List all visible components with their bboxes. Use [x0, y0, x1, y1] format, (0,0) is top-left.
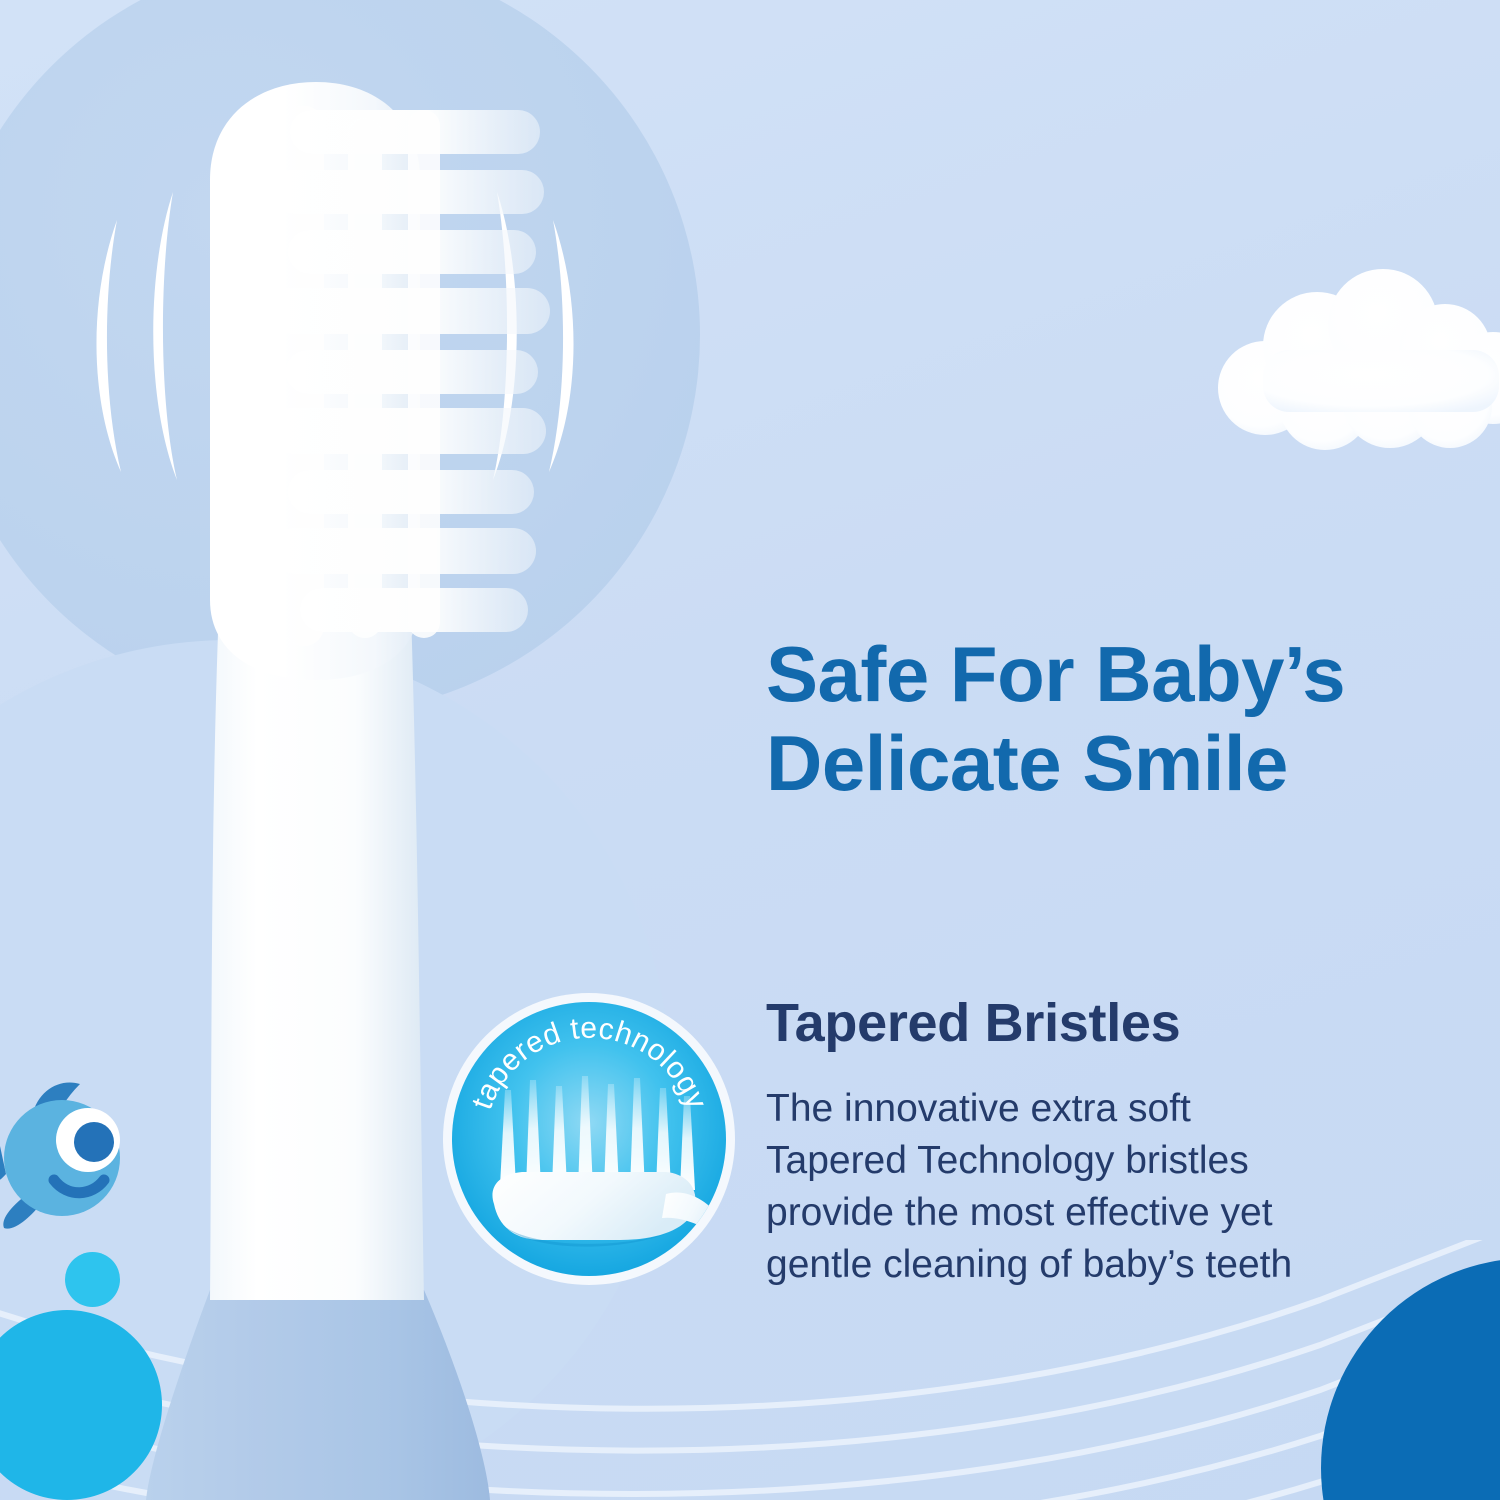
- feature-body-line: The innovative extra soft: [766, 1083, 1386, 1135]
- feature-body-line: Tapered Technology bristles: [766, 1135, 1386, 1187]
- headline-line-2: Delicate Smile: [766, 719, 1466, 808]
- feature-body: The innovative extra soft Tapered Techno…: [766, 1083, 1386, 1290]
- badge-disc: tapered technology: [452, 1002, 726, 1276]
- page-title: Safe For Baby’s Delicate Smile: [766, 630, 1466, 808]
- feature-body-line: gentle cleaning of baby’s teeth: [766, 1239, 1386, 1291]
- cloud-icon: [1205, 258, 1500, 458]
- feature-title: Tapered Bristles: [766, 992, 1426, 1054]
- headline-line-1: Safe For Baby’s: [766, 630, 1466, 719]
- badge-toothbrush-icon: [470, 1054, 726, 1274]
- product-feature-banner: Safe For Baby’s Delicate Smile: [0, 0, 1500, 1500]
- tapered-technology-badge: tapered technology: [443, 993, 735, 1285]
- feature-body-line: provide the most effective yet: [766, 1187, 1386, 1239]
